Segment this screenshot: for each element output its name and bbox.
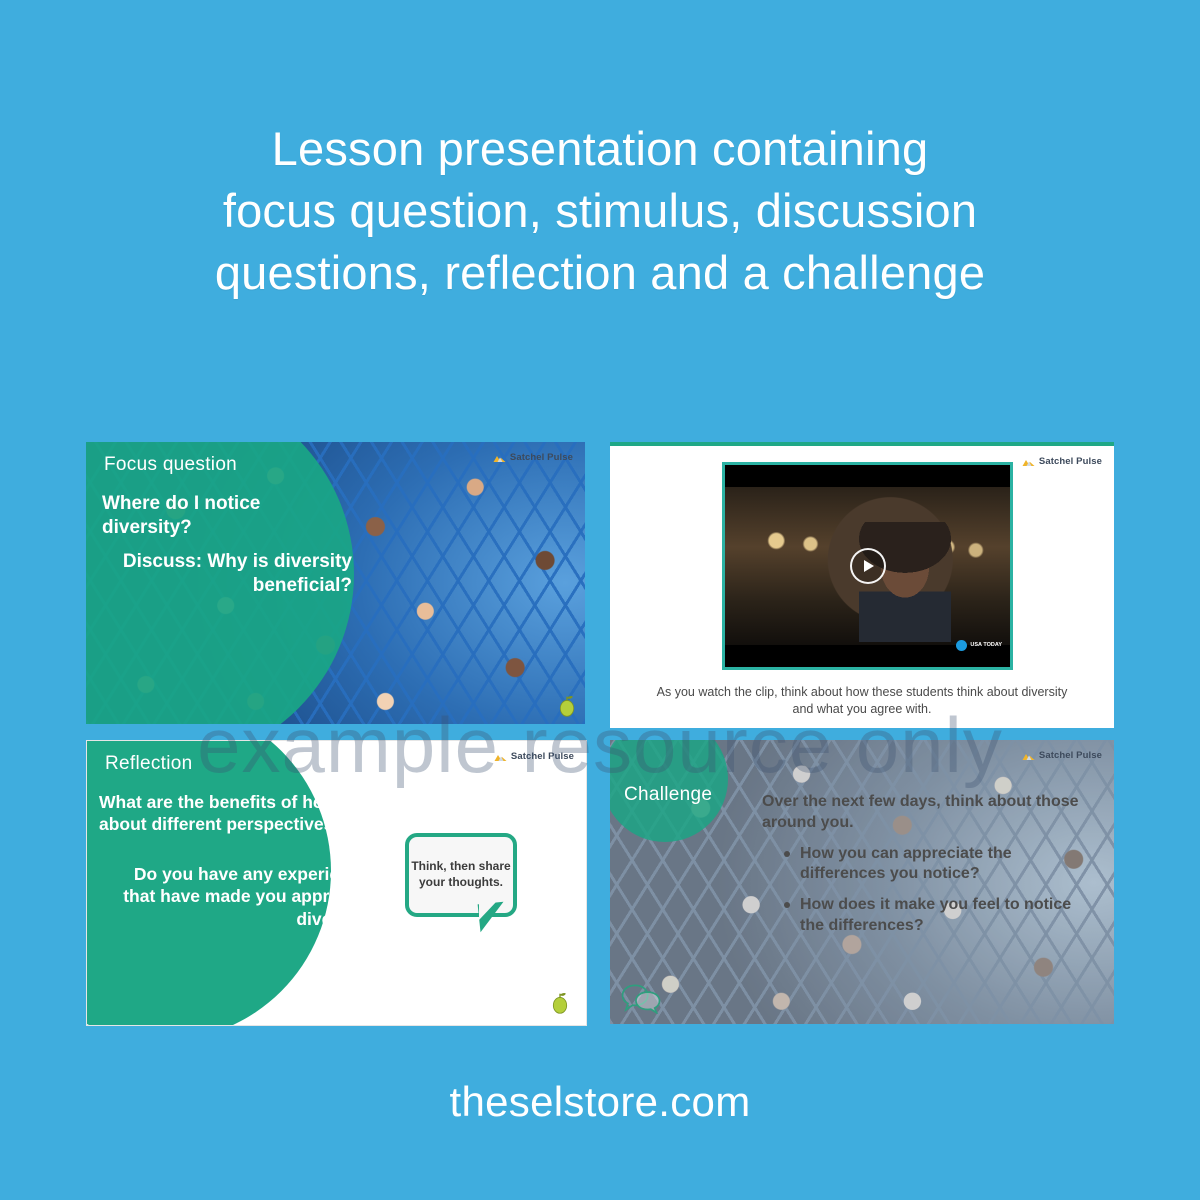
usa-today-label: USA TODAY (970, 643, 1002, 649)
satchel-pulse-logo: Satchel Pulse (1022, 456, 1102, 467)
challenge-lead: Over the next few days, think about thos… (762, 792, 1092, 834)
mountain-icon (493, 453, 506, 463)
slide-gallery: Focus question Where do I notice diversi… (86, 442, 1114, 1024)
satchel-pulse-logo-text: Satchel Pulse (1039, 456, 1102, 467)
mountain-icon (1022, 457, 1035, 467)
speech-bubble-text: Think, then share your thoughts. (409, 859, 513, 891)
mountain-icon (494, 752, 507, 762)
play-triangle (864, 560, 874, 572)
pear-icon (550, 989, 570, 1015)
slide-stimulus-video[interactable]: Satchel Pulse USA TODAY As you watch the… (610, 442, 1114, 728)
challenge-body: Over the next few days, think about thos… (762, 792, 1092, 947)
slide-challenge[interactable]: Challenge Over the next few days, think … (610, 740, 1114, 1024)
satchel-pulse-logo: Satchel Pulse (1022, 750, 1102, 761)
challenge-bullet-2: How does it make you feel to notice the … (784, 895, 1092, 937)
slide-eyebrow-reflection: Reflection (105, 753, 193, 775)
usa-today-dot (956, 640, 967, 651)
speech-bubbles-icon (620, 982, 662, 1014)
mountain-icon (1022, 751, 1035, 761)
page-title: Lesson presentation containing focus que… (0, 118, 1200, 304)
challenge-bullet-list: How you can appreciate the differences y… (762, 844, 1092, 937)
focus-question-primary: Where do I notice diversity? (102, 492, 352, 539)
usa-today-badge: USA TODAY (956, 640, 1002, 651)
video-caption: As you watch the clip, think about how t… (650, 684, 1074, 718)
slide-eyebrow-challenge: Challenge (624, 784, 712, 806)
reflection-question-secondary: Do you have any experiences that have ma… (99, 863, 379, 930)
satchel-pulse-logo-text: Satchel Pulse (1039, 750, 1102, 761)
page-title-line-2: focus question, stimulus, discussion (0, 180, 1200, 242)
slide-focus-question[interactable]: Focus question Where do I notice diversi… (86, 442, 585, 724)
play-icon[interactable] (850, 548, 886, 584)
page-title-line-3: questions, reflection and a challenge (0, 242, 1200, 304)
satchel-pulse-logo: Satchel Pulse (494, 751, 574, 762)
slide-reflection[interactable]: Reflection What are the benefits of hear… (86, 740, 587, 1026)
video-player[interactable]: USA TODAY (722, 462, 1013, 670)
satchel-pulse-logo-text: Satchel Pulse (510, 452, 573, 463)
page-title-line-1: Lesson presentation containing (0, 118, 1200, 180)
satchel-pulse-logo: Satchel Pulse (493, 452, 573, 463)
speech-bubble-tail-inner (479, 901, 497, 920)
satchel-pulse-logo-text: Satchel Pulse (511, 751, 574, 762)
promo-page: { "page": { "background_color": "#3fadde… (0, 0, 1200, 1200)
focus-question-discuss: Discuss: Why is diversity beneficial? (102, 550, 352, 597)
footer-url: theselstore.com (0, 1078, 1200, 1126)
pear-icon (557, 692, 577, 718)
challenge-bullet-1: How you can appreciate the differences y… (784, 844, 1092, 886)
slide-eyebrow-focus-question: Focus question (104, 454, 237, 476)
reflection-question-primary: What are the benefits of hearing about d… (99, 791, 379, 836)
